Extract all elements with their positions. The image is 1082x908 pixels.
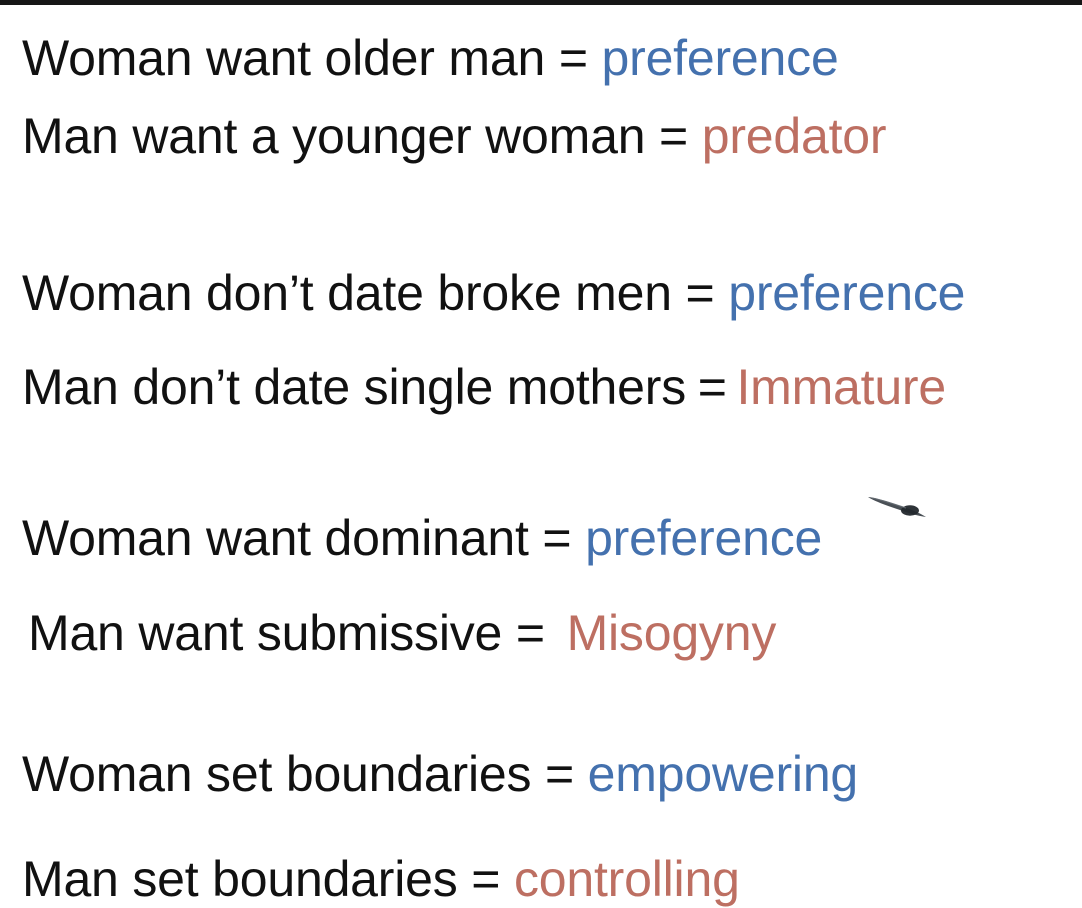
meme-line-verdict: predator — [702, 108, 887, 164]
meme-line-equals: = — [686, 265, 715, 321]
meme-line-prompt: Man don’t date single mothers — [22, 359, 686, 415]
meme-line-verdict: preference — [728, 265, 965, 321]
meme-line: Man want submissive = Misogyny — [28, 608, 776, 658]
meme-line-verdict: Immature — [736, 359, 946, 415]
meme-line: Man want a younger woman = predator — [22, 111, 886, 161]
meme-line-prompt: Man want submissive — [28, 605, 502, 661]
meme-line: Man set boundaries = controlling — [22, 854, 740, 904]
meme-line-verdict: preference — [602, 30, 839, 86]
meme-line-prompt: Woman don’t date broke men — [22, 265, 672, 321]
meme-line-equals: = — [698, 359, 727, 415]
meme-line-equals: = — [659, 108, 688, 164]
meme-line-verdict: preference — [585, 510, 822, 566]
meme-line: Woman set boundaries = empowering — [22, 749, 858, 799]
meme-line-verdict: controlling — [514, 851, 740, 907]
meme-line-prompt: Woman set boundaries — [22, 746, 531, 802]
meme-line-prompt: Woman want dominant — [22, 510, 529, 566]
meme-line-verdict: Misogyny — [567, 605, 777, 661]
meme-line: Man don’t date single mothers = Immature — [22, 362, 946, 412]
meme-line-prompt: Woman want older man — [22, 30, 545, 86]
meme-line: Woman don’t date broke men = preference — [22, 268, 965, 318]
meme-line-prompt: Man set boundaries — [22, 851, 458, 907]
meme-line: Woman want older man = preference — [22, 33, 839, 83]
meme-line-equals: = — [545, 746, 574, 802]
meme-line-equals: = — [542, 510, 571, 566]
meme-line-verdict: empowering — [588, 746, 858, 802]
meme-image-canvas: Woman want older man = preference Man wa… — [0, 0, 1082, 908]
meme-line-equals: = — [516, 605, 545, 661]
meme-line-prompt: Man want a younger woman — [22, 108, 645, 164]
meme-line-equals: = — [559, 30, 588, 86]
meme-line-equals: = — [471, 851, 500, 907]
meme-line: Woman want dominant = preference — [22, 513, 822, 563]
meme-lines-container: Woman want older man = preference Man wa… — [0, 5, 1082, 908]
